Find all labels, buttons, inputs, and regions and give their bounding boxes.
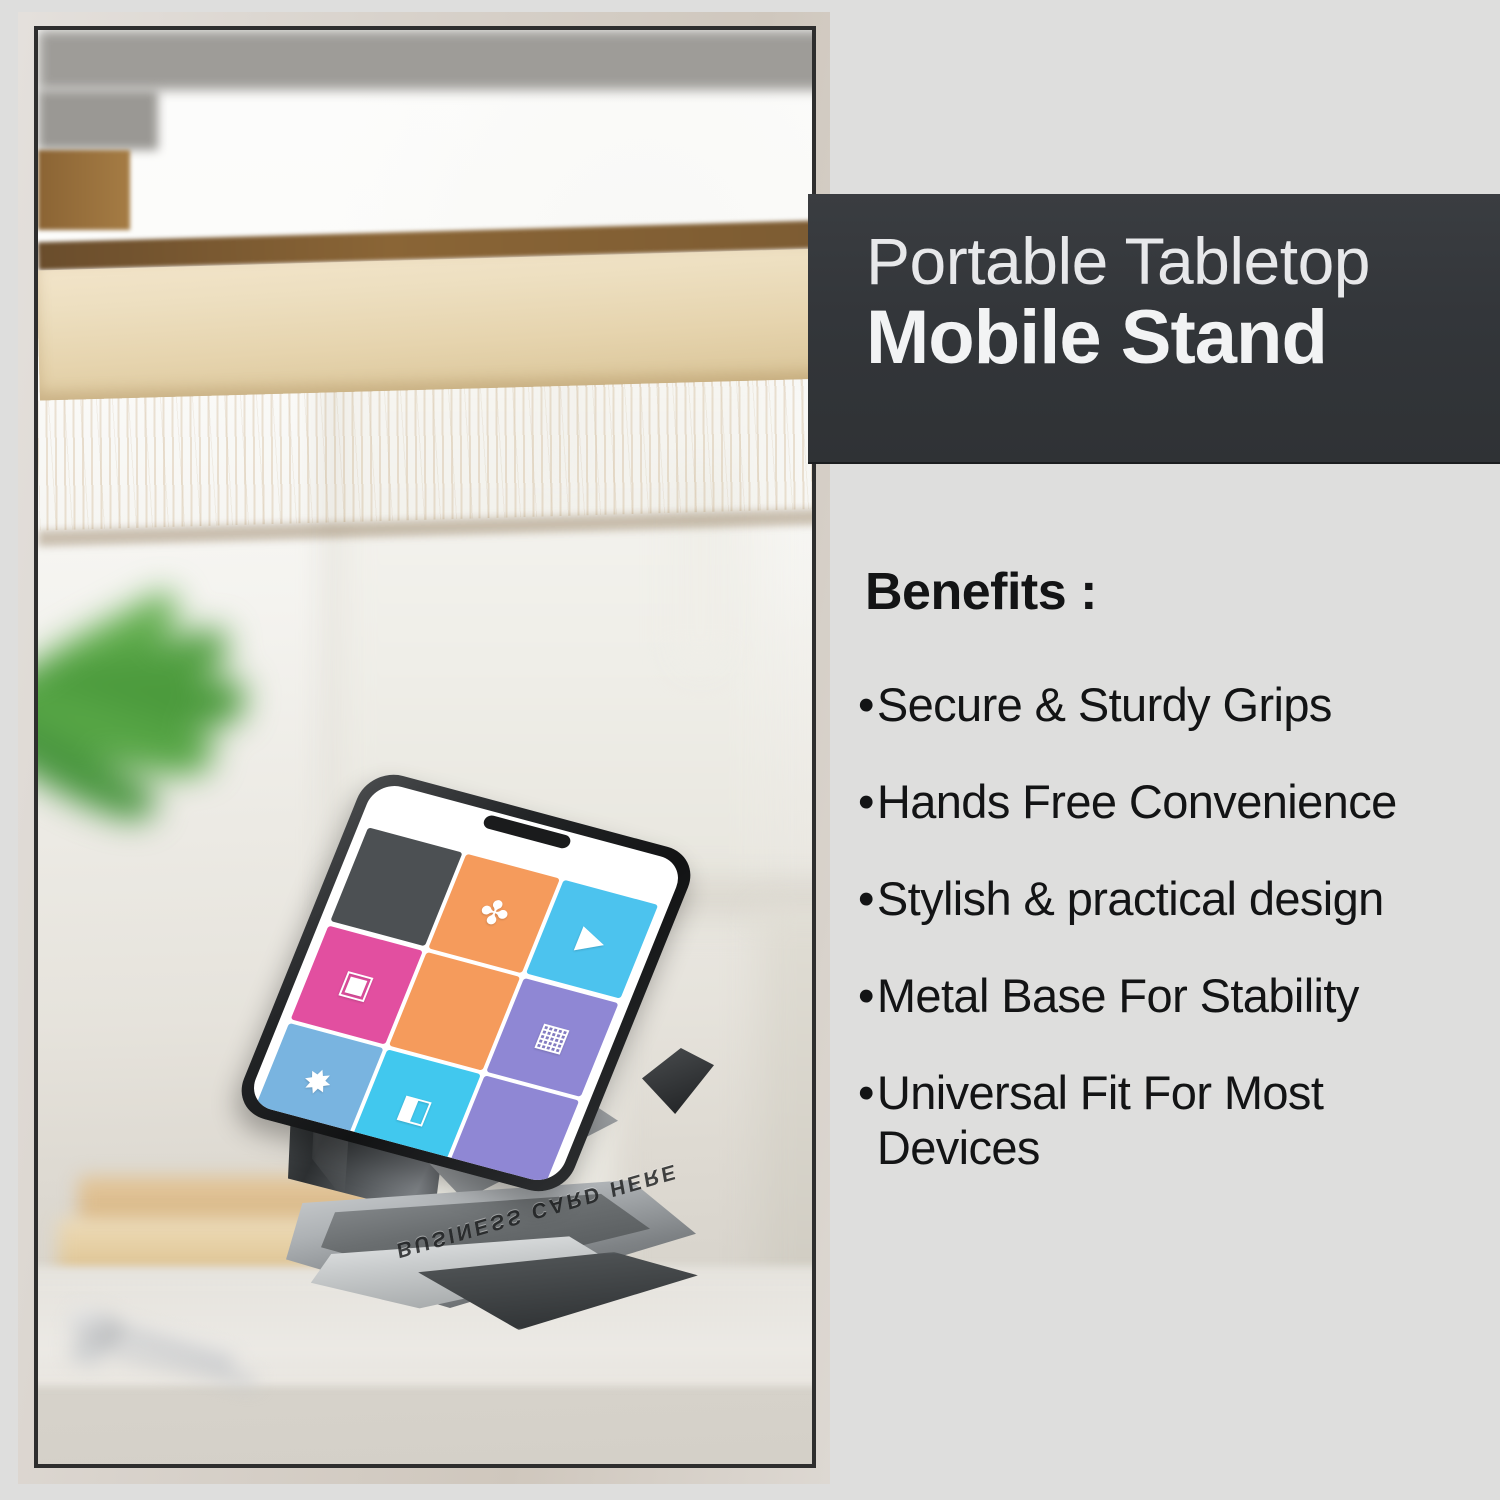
- benefits-heading: Benefits :: [865, 562, 1490, 622]
- bullet-icon: •: [858, 969, 874, 1024]
- benefit-item-1: •Secure & Sturdy Grips: [858, 678, 1490, 733]
- table-leg-right: [38, 150, 130, 230]
- app-tile-icon: ◧: [393, 1089, 437, 1129]
- page-title: Mobile Stand: [866, 299, 1500, 377]
- app-tile-icon: ✸: [297, 1063, 337, 1102]
- title-banner: Portable Tabletop Mobile Stand: [808, 194, 1500, 462]
- table-leg-left: [38, 90, 158, 150]
- benefits-section: Benefits : •Secure & Sturdy Grips•Hands …: [858, 562, 1490, 1176]
- cutlery-icon: [68, 1310, 298, 1390]
- benefit-item-2: •Hands Free Convenience: [858, 775, 1490, 830]
- bullet-icon: •: [858, 872, 874, 927]
- app-tile-icon: ▣: [335, 965, 379, 1005]
- app-tile-icon: ▶: [573, 920, 611, 958]
- benefit-item-label: Hands Free Convenience: [877, 775, 1490, 830]
- stand-grip-lip: [642, 1048, 714, 1114]
- product-photo-border: BUSINESS CARD HERE ✤▶▣▦✸◧⚉◉↺◪▲◙✦: [34, 26, 816, 1468]
- benefit-item-label: Metal Base For Stability: [877, 969, 1490, 1024]
- wood-grain-texture: [38, 375, 812, 530]
- product-photo-frame: BUSINESS CARD HERE ✤▶▣▦✸◧⚉◉↺◪▲◙✦: [18, 12, 830, 1484]
- benefit-item-label: Secure & Sturdy Grips: [877, 678, 1490, 733]
- app-tile-icon: ▦: [531, 1017, 575, 1057]
- benefit-item-3: •Stylish & practical design: [858, 872, 1490, 927]
- benefits-list: •Secure & Sturdy Grips•Hands Free Conven…: [858, 678, 1490, 1176]
- app-tile-icon: ✤: [474, 894, 514, 933]
- floor-background: [38, 30, 812, 90]
- title-line-1: Portable Tabletop: [866, 228, 1500, 295]
- plant-leaf-icon: [38, 586, 308, 876]
- benefit-item-label: Stylish & practical design: [877, 872, 1490, 927]
- bullet-icon: •: [858, 678, 874, 733]
- benefit-item-4: •Metal Base For Stability: [858, 969, 1490, 1024]
- benefit-item-5: •Universal Fit For Most Devices: [858, 1066, 1490, 1176]
- product-photo-image: BUSINESS CARD HERE ✤▶▣▦✸◧⚉◉↺◪▲◙✦: [38, 30, 812, 1464]
- bullet-icon: •: [858, 1066, 874, 1121]
- bullet-icon: •: [858, 775, 874, 830]
- phone-notch-icon: [482, 814, 573, 850]
- wood-table-top: [38, 245, 812, 400]
- benefit-item-label: Universal Fit For Most Devices: [877, 1066, 1490, 1176]
